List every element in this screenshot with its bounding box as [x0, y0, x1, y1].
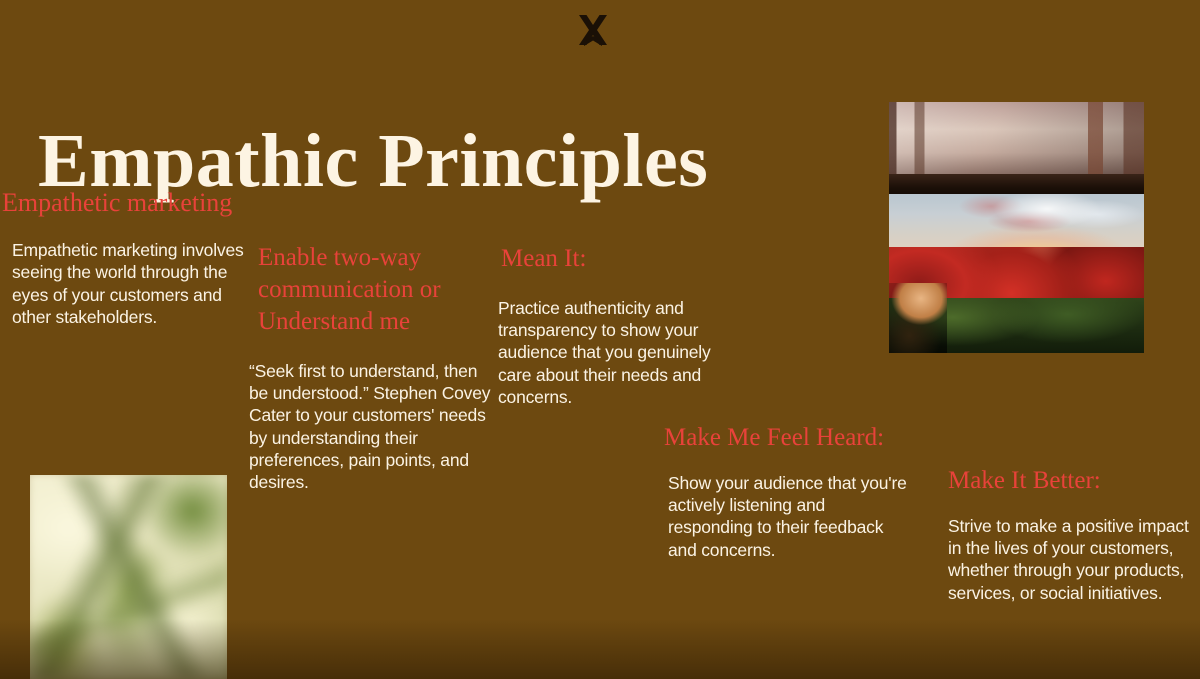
block-body: Practice authenticity and transparency t…: [498, 297, 724, 408]
foreground-figure: [889, 283, 947, 353]
block-body: Empathetic marketing involves seeing the…: [0, 239, 252, 328]
block-heading: Make Me Feel Heard:: [664, 422, 912, 454]
landscape-photo: [889, 102, 1144, 353]
block-heading: Make It Better:: [945, 465, 1189, 497]
slide-canvas: Empathic Principles Empathetic marketing…: [0, 0, 1200, 679]
lily-photo: [30, 475, 227, 679]
block-body: Strive to make a positive impact in the …: [945, 515, 1189, 604]
text-block-make-me-feel-heard: Make Me Feel Heard: Show your audience t…: [664, 422, 912, 561]
shadow-band: [889, 174, 1144, 196]
block-body: “Seek first to understand, then be under…: [249, 360, 499, 493]
lily-stems: [30, 475, 227, 679]
text-block-empathetic-marketing: Empathetic marketing Empathetic marketin…: [0, 186, 252, 328]
x-logo-mark[interactable]: [574, 13, 612, 49]
text-block-make-it-better: Make It Better: Strive to make a positiv…: [945, 465, 1189, 604]
block-heading: Empathetic marketing: [0, 186, 252, 219]
text-block-enable-two-way: Enable two-way communication or Understa…: [249, 242, 499, 493]
block-heading: Mean It:: [498, 243, 724, 275]
block-heading: Enable two-way communication or Understa…: [249, 242, 499, 338]
text-block-mean-it: Mean It: Practice authenticity and trans…: [498, 243, 724, 408]
block-body: Show your audience that you're actively …: [664, 472, 912, 561]
canopy-rails: [889, 102, 1144, 180]
